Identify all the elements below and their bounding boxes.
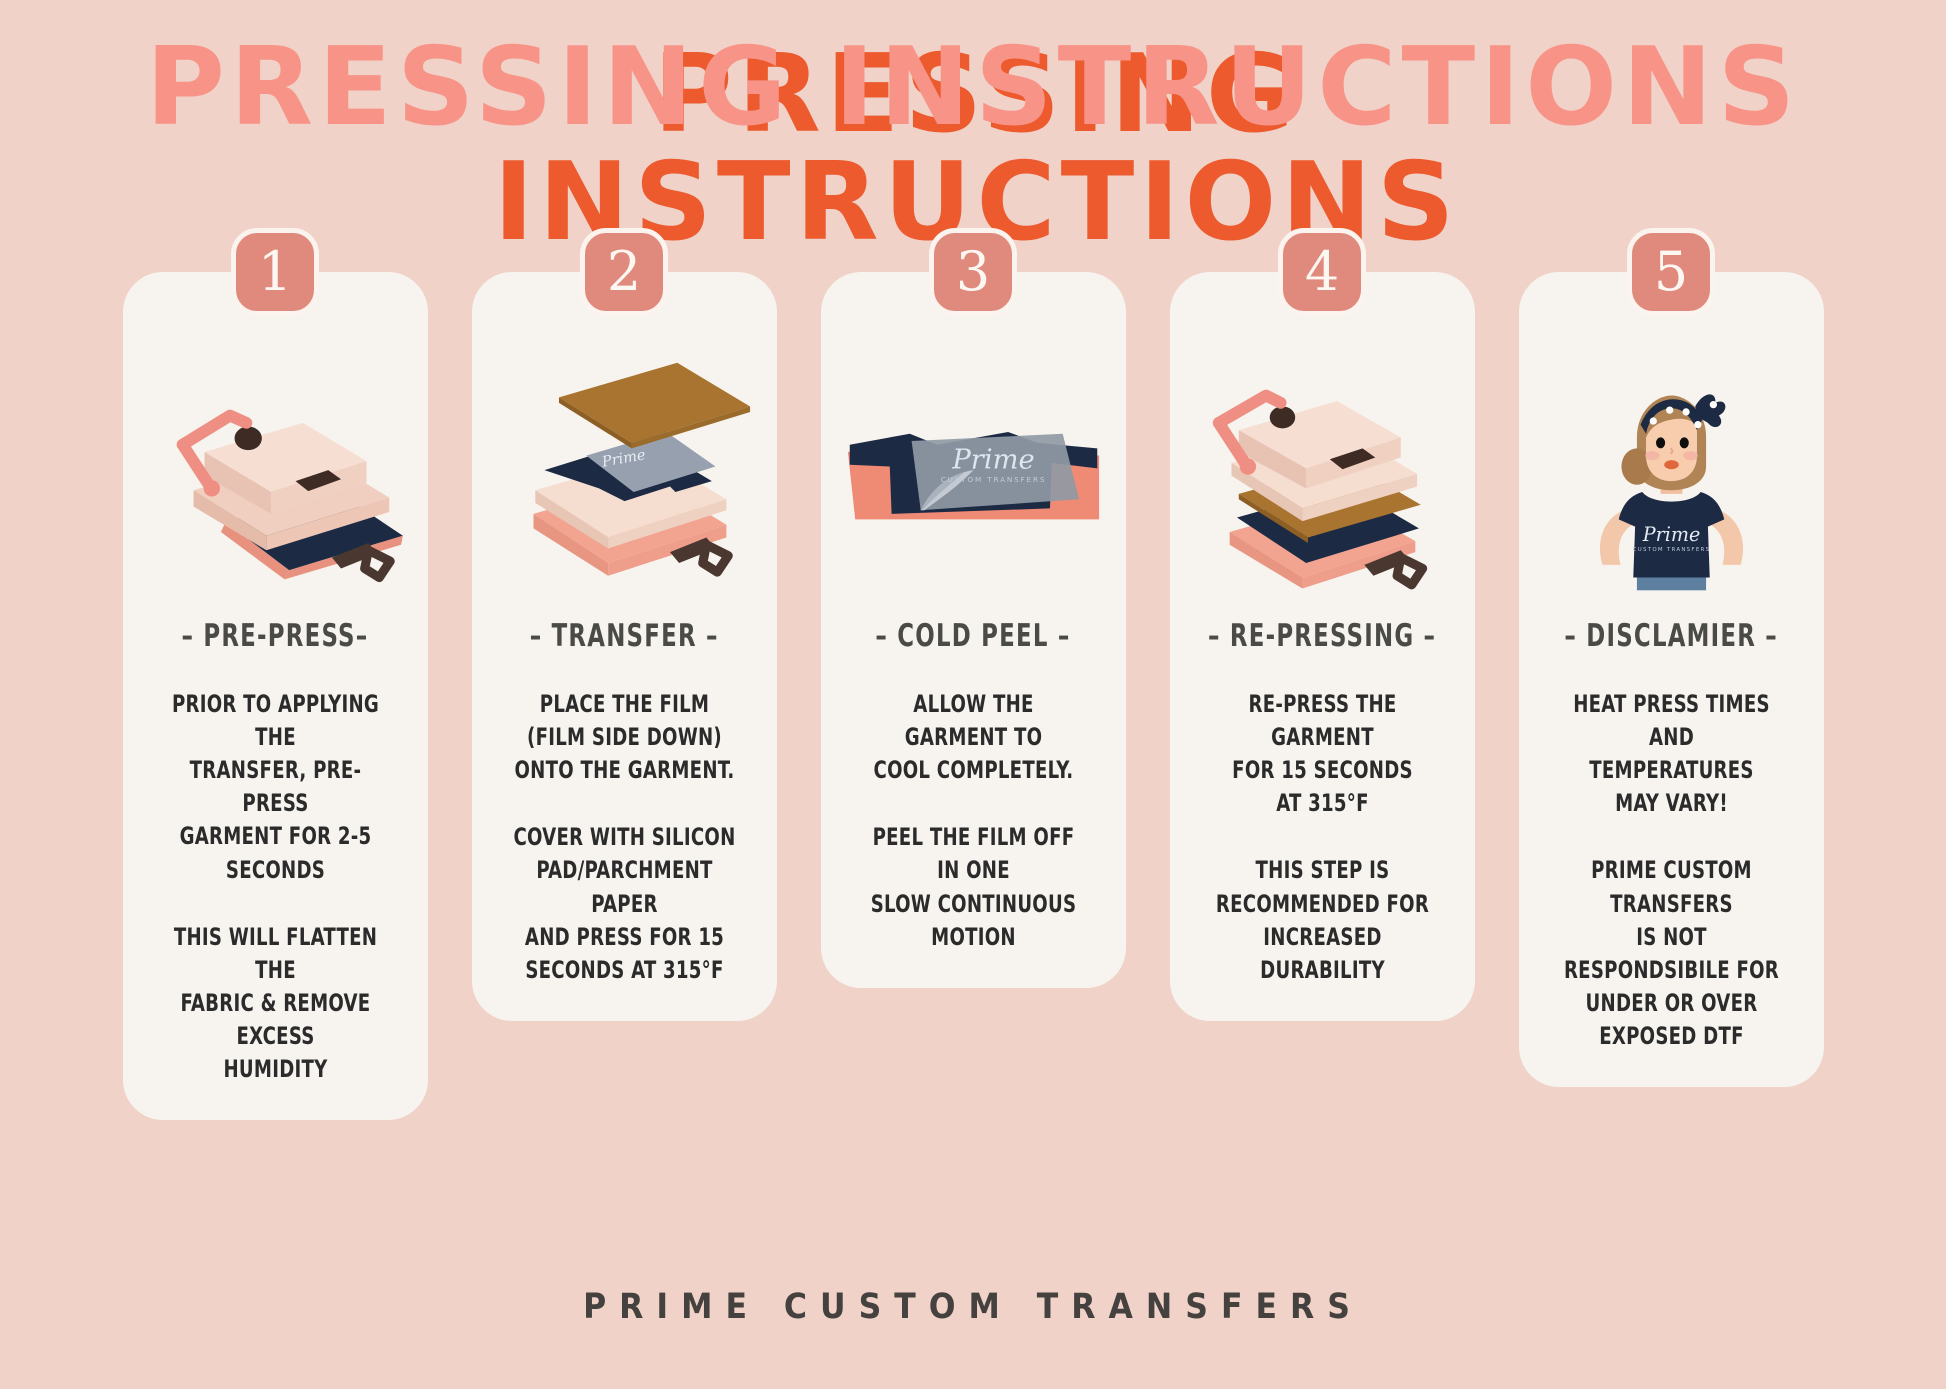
step-badge-5: 5: [1627, 228, 1715, 316]
step-card-3: 3 Prime CUSTOM TRANSFERS –: [821, 228, 1126, 988]
step-heading-1: – PRE-PRESS–: [182, 618, 369, 654]
step-heading-3: – COLD PEEL –: [875, 618, 1070, 654]
step-paragraph: RE-PRESS THE GARMENT FOR 15 SECONDS AT 3…: [1207, 688, 1436, 820]
re-press-icon: Prime: [1186, 342, 1459, 602]
step-card-1: 1: [123, 228, 428, 1120]
step-paragraph: PRIME CUSTOM TRANSFERS IS NOT RESPONDSIB…: [1556, 854, 1785, 1053]
step-heading-5: – DISCLAMIER –: [1564, 618, 1778, 654]
step-card-5: 5: [1519, 228, 1824, 1087]
step-paragraph: PEEL THE FILM OFF IN ONE SLOW CONTINUOUS…: [858, 821, 1087, 953]
step-card-4: 4 Prime: [1170, 228, 1475, 1021]
step-badge-1: 1: [231, 228, 319, 316]
brand-footer: PRIME CUSTOM TRANSFERS: [0, 1287, 1946, 1327]
woman-wearing-shirt-icon: Prime CUSTOM TRANSFERS: [1535, 342, 1808, 602]
step-body-2: PLACE THE FILM (FILM SIDE DOWN) ONTO THE…: [488, 688, 761, 987]
steps-row: 1: [0, 228, 1946, 1120]
step-card-2: 2 Prime: [472, 228, 777, 1021]
tshirt-peel-icon: Prime CUSTOM TRANSFERS: [837, 342, 1110, 602]
step-paragraph: THIS WILL FLATTEN THE FABRIC & REMOVE EX…: [160, 921, 389, 1087]
svg-text:CUSTOM TRANSFERS: CUSTOM TRANSFERS: [1632, 547, 1710, 553]
parchment-layers-icon: Prime: [488, 342, 761, 602]
step-paragraph: PRIOR TO APPLYING THE TRANSFER, PRE-PRES…: [160, 688, 389, 887]
step-heading-2: – TRANSFER –: [530, 618, 719, 654]
step-heading-4: – RE-PRESSING –: [1208, 618, 1436, 654]
step-body-3: ALLOW THE GARMENT TO COOL COMPLETELY. PE…: [837, 688, 1110, 954]
page-title-text: PRESSING INSTRUCTIONS: [146, 34, 1801, 142]
brand-script: Prime: [951, 444, 1034, 475]
step-body-5: HEAT PRESS TIMES AND TEMPERATURES MAY VA…: [1535, 688, 1808, 1053]
brand-sub: CUSTOM TRANSFERS: [940, 475, 1046, 484]
heat-press-icon: [139, 342, 412, 602]
step-badge-2: 2: [580, 228, 668, 316]
step-paragraph: THIS STEP IS RECOMMENDED FOR INCREASED D…: [1207, 854, 1436, 986]
step-paragraph: PLACE THE FILM (FILM SIDE DOWN) ONTO THE…: [509, 688, 738, 787]
step-badge-3: 3: [929, 228, 1017, 316]
step-body-1: PRIOR TO APPLYING THE TRANSFER, PRE-PRES…: [139, 688, 412, 1086]
step-paragraph: HEAT PRESS TIMES AND TEMPERATURES MAY VA…: [1556, 688, 1785, 820]
step-body-4: RE-PRESS THE GARMENT FOR 15 SECONDS AT 3…: [1186, 688, 1459, 987]
page-title: PRESSING INSTRUCTIONS PRESSING INSTRUCTI…: [0, 34, 1946, 174]
step-paragraph: COVER WITH SILICON PAD/PARCHMENT PAPER A…: [509, 821, 738, 987]
svg-text:Prime: Prime: [1641, 523, 1700, 546]
step-paragraph: ALLOW THE GARMENT TO COOL COMPLETELY.: [858, 688, 1087, 787]
step-badge-4: 4: [1278, 228, 1366, 316]
